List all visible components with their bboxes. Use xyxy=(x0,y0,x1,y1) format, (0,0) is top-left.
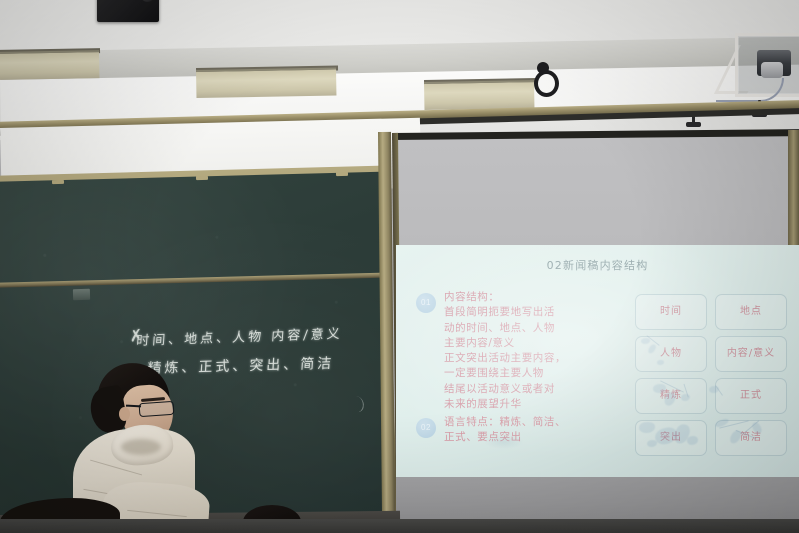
speaker-cone-icon xyxy=(141,0,154,2)
keyword-box-content: 内容/意义 xyxy=(715,336,787,372)
fluorescent-light xyxy=(196,68,336,98)
keyword-box-place: 地点 xyxy=(715,294,787,330)
chalkboard-clip xyxy=(52,180,64,184)
fluorescent-light xyxy=(0,50,99,80)
chalk-eraser xyxy=(73,289,90,300)
bullet-badge-01: 01 xyxy=(416,293,436,313)
keyword-box-time: 时间 xyxy=(635,294,707,330)
bullet-text-01: 内容结构： 首段简明扼要地写出活 动的时间、地点、人物 主要内容/意义 正文突出… xyxy=(444,290,566,412)
keyword-box-grid: 时间 地点 人物 内容/意义 精炼 正式 突出 简洁 xyxy=(635,294,785,454)
wall-speaker xyxy=(97,0,159,22)
projected-slide: 02新闻稿内容结构 01 内容结构： 首段简明扼要地写出活 动的时间、地点、人物… xyxy=(396,245,799,477)
classroom-photo: ✗ 时间、地点、人物 内容/意义 精炼、正式、突出、简洁 02新闻稿内容结构 0… xyxy=(0,0,799,533)
chalkboard-clip xyxy=(196,176,208,180)
keyword-box-prominent: 突出 xyxy=(635,420,707,456)
fluorescent-light xyxy=(424,80,534,110)
bullet-badge-02: 02 xyxy=(416,418,436,438)
slide-smudge xyxy=(484,435,524,449)
keyword-box-person: 人物 xyxy=(635,336,707,372)
lower-wall xyxy=(396,477,799,523)
chalkboard-clip xyxy=(336,172,348,176)
keyword-box-formal: 正式 xyxy=(715,378,787,414)
keyword-box-concise: 精炼 xyxy=(635,378,707,414)
ceiling-hook-ring xyxy=(534,70,559,97)
slide-title: 02新闻稿内容结构 xyxy=(396,257,799,273)
keyword-box-brief: 简洁 xyxy=(715,420,787,456)
mount-pad xyxy=(686,122,701,127)
collar-shadow xyxy=(121,439,161,455)
bottom-edge xyxy=(0,519,799,533)
glasses-icon xyxy=(139,401,175,417)
ear xyxy=(119,407,130,421)
projector-lens-icon xyxy=(761,62,783,78)
